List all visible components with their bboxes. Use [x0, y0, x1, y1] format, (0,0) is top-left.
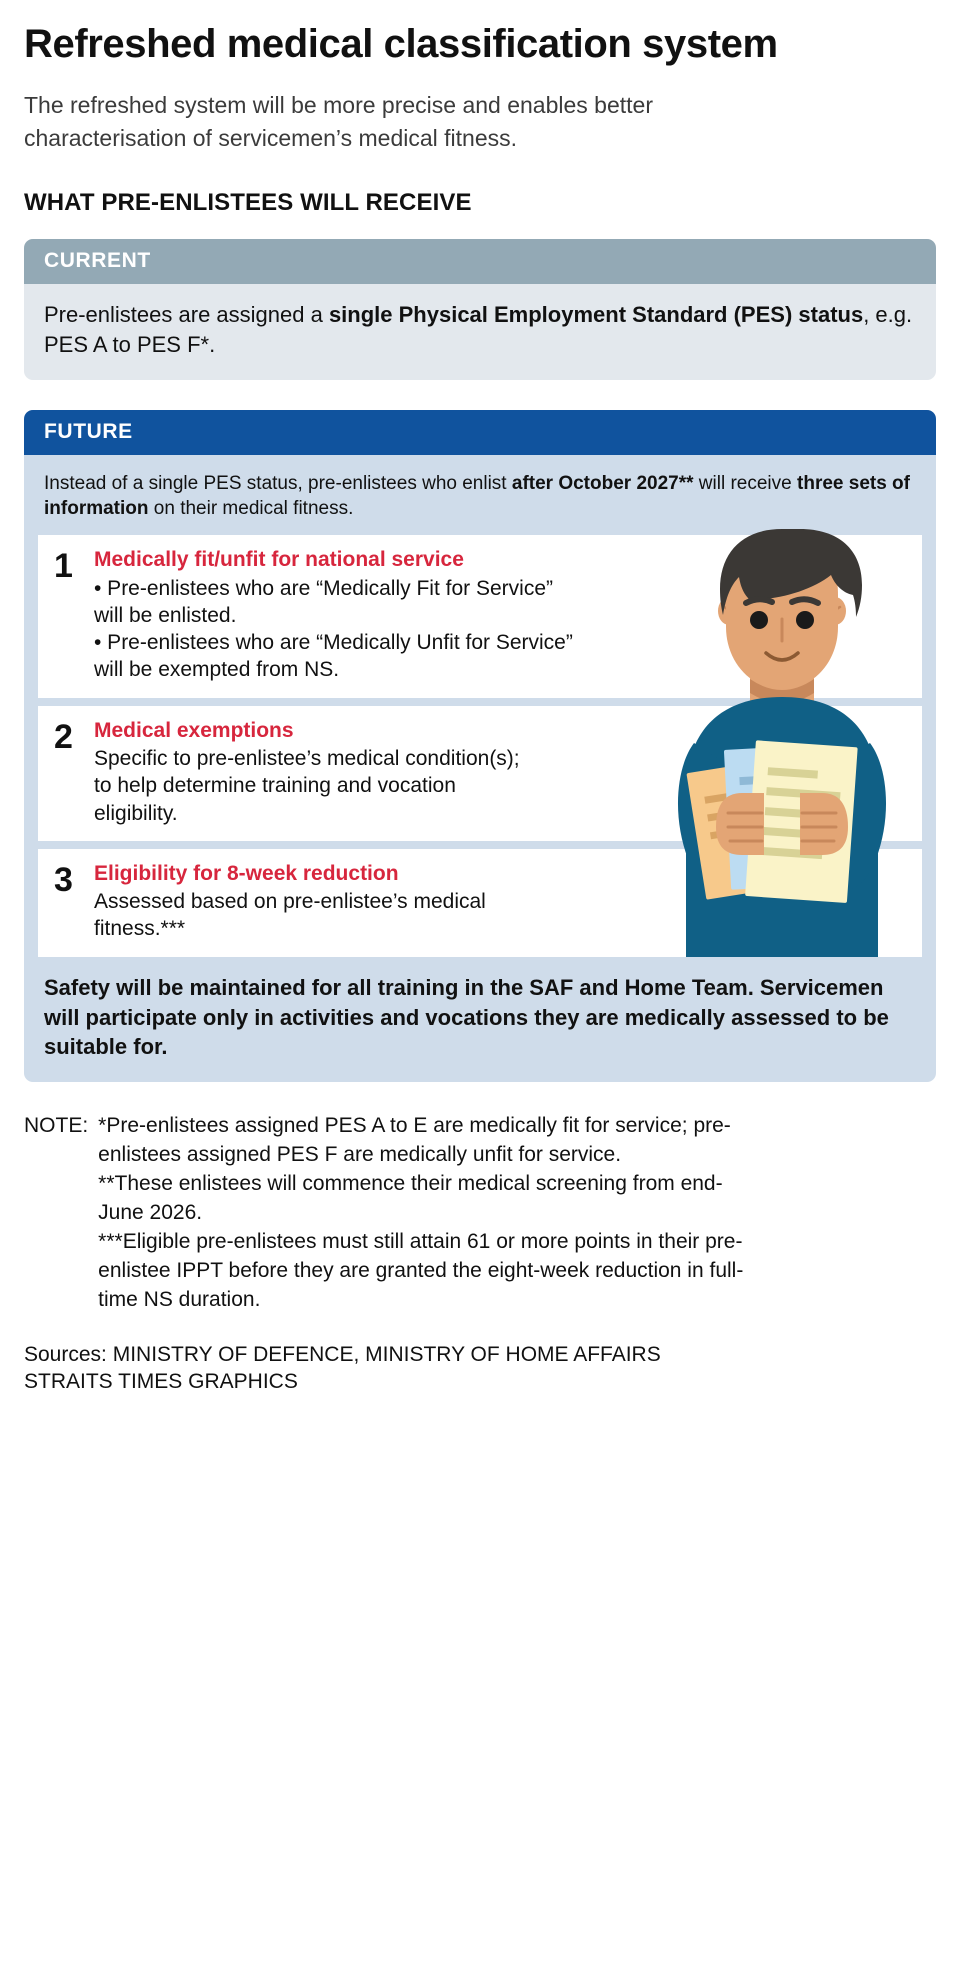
current-text-part1: Pre-enlistees are assigned a: [44, 302, 329, 327]
point-2-title: Medical exemptions: [94, 718, 524, 743]
point-3-title: Eligibility for 8-week reduction: [94, 861, 494, 886]
future-intro-part2: will receive: [694, 473, 797, 494]
infographic-page: Refreshed medical classification system …: [0, 0, 960, 1396]
future-point-1: 1 Medically fit/unfit for national servi…: [38, 535, 922, 697]
page-title: Refreshed medical classification system: [24, 22, 936, 67]
future-card: FUTURE Instead of a single PES status, p…: [24, 410, 936, 1082]
current-card: CURRENT Pre-enlistees are assigned a sin…: [24, 239, 936, 379]
sources-line-1: Sources: MINISTRY OF DEFENCE, MINISTRY O…: [24, 1341, 936, 1368]
future-intro-text: Instead of a single PES status, pre-enli…: [24, 455, 936, 536]
sources-block: Sources: MINISTRY OF DEFENCE, MINISTRY O…: [24, 1341, 936, 1396]
note-line-1: *Pre-enlistees assigned PES A to E are m…: [98, 1112, 748, 1170]
point-2-number: 2: [54, 718, 82, 827]
notes-body: *Pre-enlistees assigned PES A to E are m…: [98, 1112, 748, 1315]
point-1-text: • Pre-enlistees who are “Medically Fit f…: [94, 575, 574, 684]
point-1-title: Medically fit/unfit for national service: [94, 547, 574, 572]
notes-block: NOTE: *Pre-enlistees assigned PES A to E…: [24, 1112, 936, 1315]
future-intro-part3: on their medical fitness.: [149, 498, 354, 519]
current-card-body: Pre-enlistees are assigned a single Phys…: [24, 284, 936, 379]
point-1-number: 1: [54, 547, 82, 683]
notes-label: NOTE:: [24, 1112, 88, 1315]
current-text-bold: single Physical Employment Standard (PES…: [329, 302, 863, 327]
future-points-wrapper: 1 Medically fit/unfit for national servi…: [24, 535, 936, 956]
future-intro-part1: Instead of a single PES status, pre-enli…: [44, 473, 512, 494]
standfirst-text: The refreshed system will be more precis…: [24, 89, 684, 156]
future-point-3: 3 Eligibility for 8-week reduction Asses…: [38, 849, 922, 957]
future-intro-bold1: after October 2027**: [512, 473, 694, 494]
note-line-2: **These enlistees will commence their me…: [98, 1170, 748, 1228]
current-card-header: CURRENT: [24, 239, 936, 284]
point-2-text: Specific to pre-enlistee’s medical condi…: [94, 745, 524, 827]
sources-line-2: STRAITS TIMES GRAPHICS: [24, 1368, 936, 1395]
note-line-3: ***Eligible pre-enlistees must still att…: [98, 1228, 748, 1315]
point-3-text: Assessed based on pre-enlistee’s medical…: [94, 888, 494, 943]
future-card-header: FUTURE: [24, 410, 936, 455]
future-point-2: 2 Medical exemptions Specific to pre-enl…: [38, 706, 922, 841]
future-safety-text: Safety will be maintained for all traini…: [24, 957, 936, 1083]
section-kicker: WHAT PRE-ENLISTEES WILL RECEIVE: [24, 189, 936, 217]
point-3-number: 3: [54, 861, 82, 943]
